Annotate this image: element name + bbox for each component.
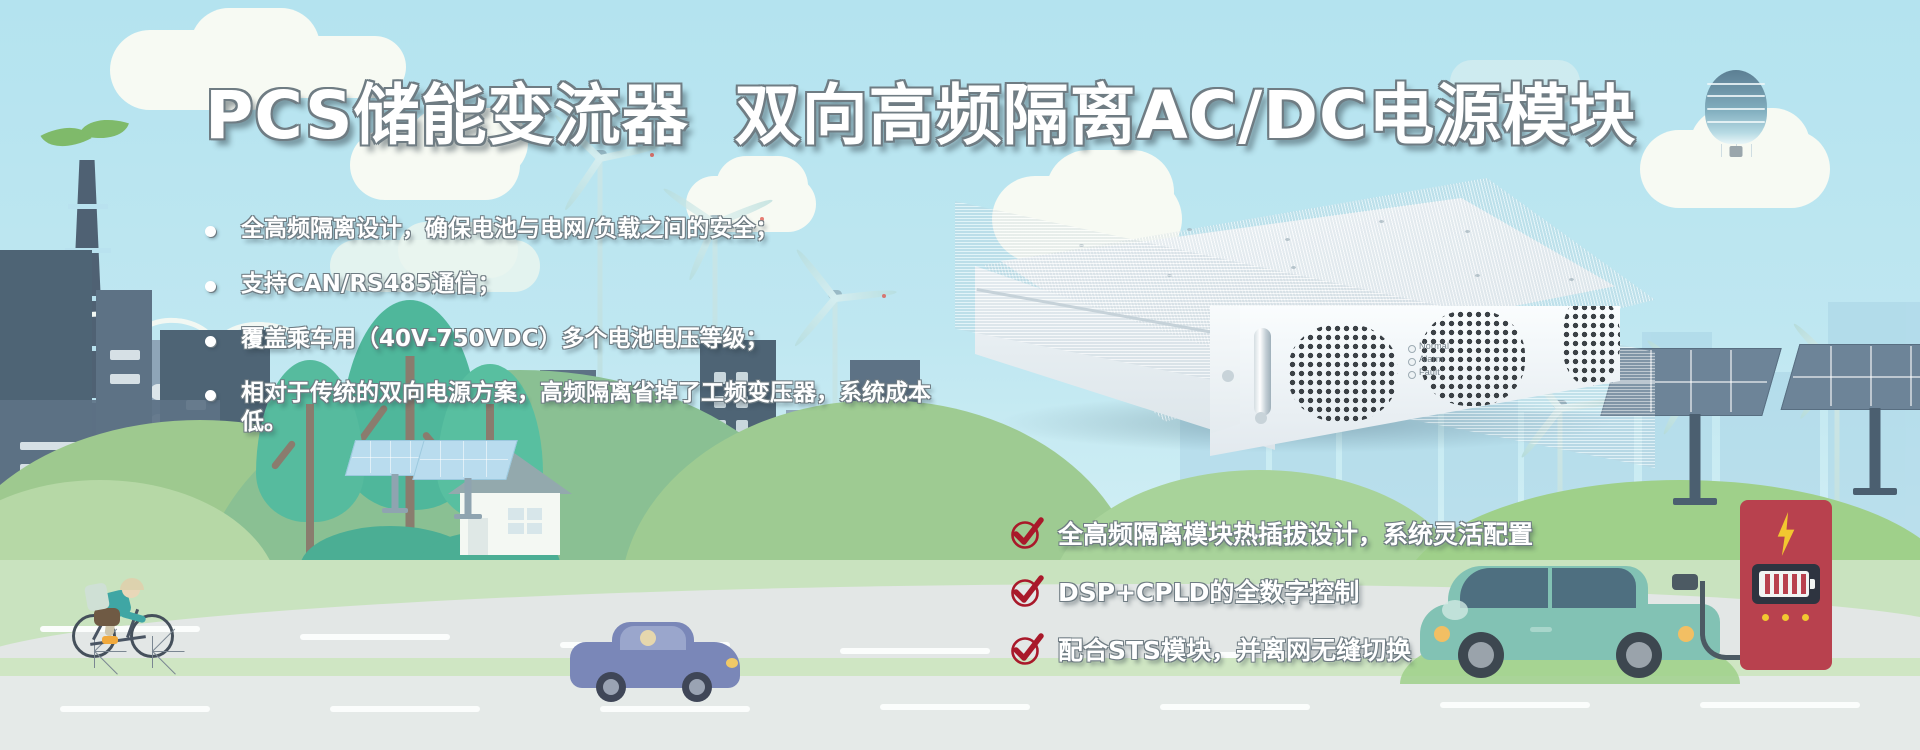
road-dash xyxy=(1160,704,1310,710)
led-label-normal: Normal xyxy=(1419,341,1449,351)
road-dash xyxy=(1440,702,1590,708)
car-light xyxy=(726,658,738,668)
feature-list: 全高频隔离设计，确保电池与电网/负载之间的安全； 支持CAN/RS485通信； … xyxy=(205,215,945,463)
hot-air-balloon-icon xyxy=(1705,70,1767,144)
rack-handle-left xyxy=(1254,328,1271,416)
feature-item: 支持CAN/RS485通信； xyxy=(205,270,945,299)
feature-text: 覆盖乘车用（40V-750VDC）多个电池电压等级； xyxy=(241,326,768,352)
blue-car-icon xyxy=(570,616,740,702)
road-dash xyxy=(330,706,480,712)
highlight-item: DSP+CPLD的全数字控制 xyxy=(1010,576,1730,612)
highlight-list: 全高频隔离模块热插拔设计，系统灵活配置 DSP+CPLD的全数字控制 配合STS… xyxy=(1010,518,1730,692)
road-dash xyxy=(880,704,1030,710)
highlight-text: 全高频隔离模块热插拔设计，系统灵活配置 xyxy=(1058,520,1533,549)
bullet-dot-icon xyxy=(205,390,216,401)
product-banner: Normal Alarm Fault PCS储能变流器双向高频隔离AC/DC电源… xyxy=(0,0,1920,750)
road-dash xyxy=(300,634,450,640)
solar-panel-icon xyxy=(1790,344,1920,494)
ev-charging-station-icon xyxy=(1740,500,1832,670)
rider-shorts xyxy=(94,608,120,626)
road-dash xyxy=(1700,702,1860,708)
bullet-dot-icon xyxy=(205,226,216,237)
bullet-dot-icon xyxy=(205,336,216,347)
product-photo: Normal Alarm Fault xyxy=(955,178,1655,468)
balloon-envelope xyxy=(1705,70,1767,144)
highlight-item: 全高频隔离模块热插拔设计，系统灵活配置 xyxy=(1010,518,1730,554)
rider-shoe xyxy=(102,636,118,644)
product-front-details: Normal Alarm Fault xyxy=(1210,306,1620,456)
led-label-fault: Fault xyxy=(1419,367,1440,377)
rider-helmet xyxy=(120,578,144,590)
highlight-text: DSP+CPLD的全数字控制 xyxy=(1058,578,1359,607)
title-right: 双向高频隔离AC/DC电源模块 xyxy=(735,77,1637,154)
handle-screw xyxy=(1222,370,1234,382)
feature-item: 覆盖乘车用（40V-750VDC）多个电池电压等级； xyxy=(205,325,945,354)
led-indicator xyxy=(1408,371,1416,379)
window-shape xyxy=(110,374,140,384)
highlight-text: 配合STS模块，并离网无缝切换 xyxy=(1058,636,1411,665)
page-title: PCS储能变流器双向高频隔离AC/DC电源模块 xyxy=(205,62,1636,158)
car-driver xyxy=(640,630,656,646)
road-dash xyxy=(840,648,990,654)
highlight-item: 配合STS模块，并离网无缝切换 xyxy=(1010,634,1730,670)
road-dash xyxy=(60,706,210,712)
title-left: PCS储能变流器 xyxy=(205,77,689,154)
ventilation-grille xyxy=(1562,306,1620,386)
check-icon xyxy=(1010,575,1044,609)
check-icon xyxy=(1010,633,1044,667)
feature-text: 全高频隔离设计，确保电池与电网/负载之间的安全； xyxy=(241,216,778,242)
handle-screw xyxy=(1255,412,1267,424)
feature-item: 全高频隔离设计，确保电池与电网/负载之间的安全； xyxy=(205,215,945,244)
feature-item: 相对于传统的双向电源方案，高频隔离省掉了工频变压器，系统成本低。 xyxy=(205,379,945,437)
check-icon xyxy=(1010,517,1044,551)
ventilation-grille xyxy=(1288,324,1398,422)
road-dash xyxy=(600,706,750,712)
rider-backpack xyxy=(84,582,110,611)
cyclist-icon xyxy=(70,560,180,660)
bullet-dot-icon xyxy=(205,281,216,292)
feature-text: 支持CAN/RS485通信； xyxy=(241,271,501,297)
led-indicator xyxy=(1408,345,1416,353)
feature-text: 相对于传统的双向电源方案，高频隔离省掉了工频变压器，系统成本低。 xyxy=(241,380,931,435)
led-indicator xyxy=(1408,358,1416,366)
led-label-alarm: Alarm xyxy=(1419,354,1444,364)
balloon-basket xyxy=(1730,146,1743,157)
window-shape xyxy=(110,350,140,360)
